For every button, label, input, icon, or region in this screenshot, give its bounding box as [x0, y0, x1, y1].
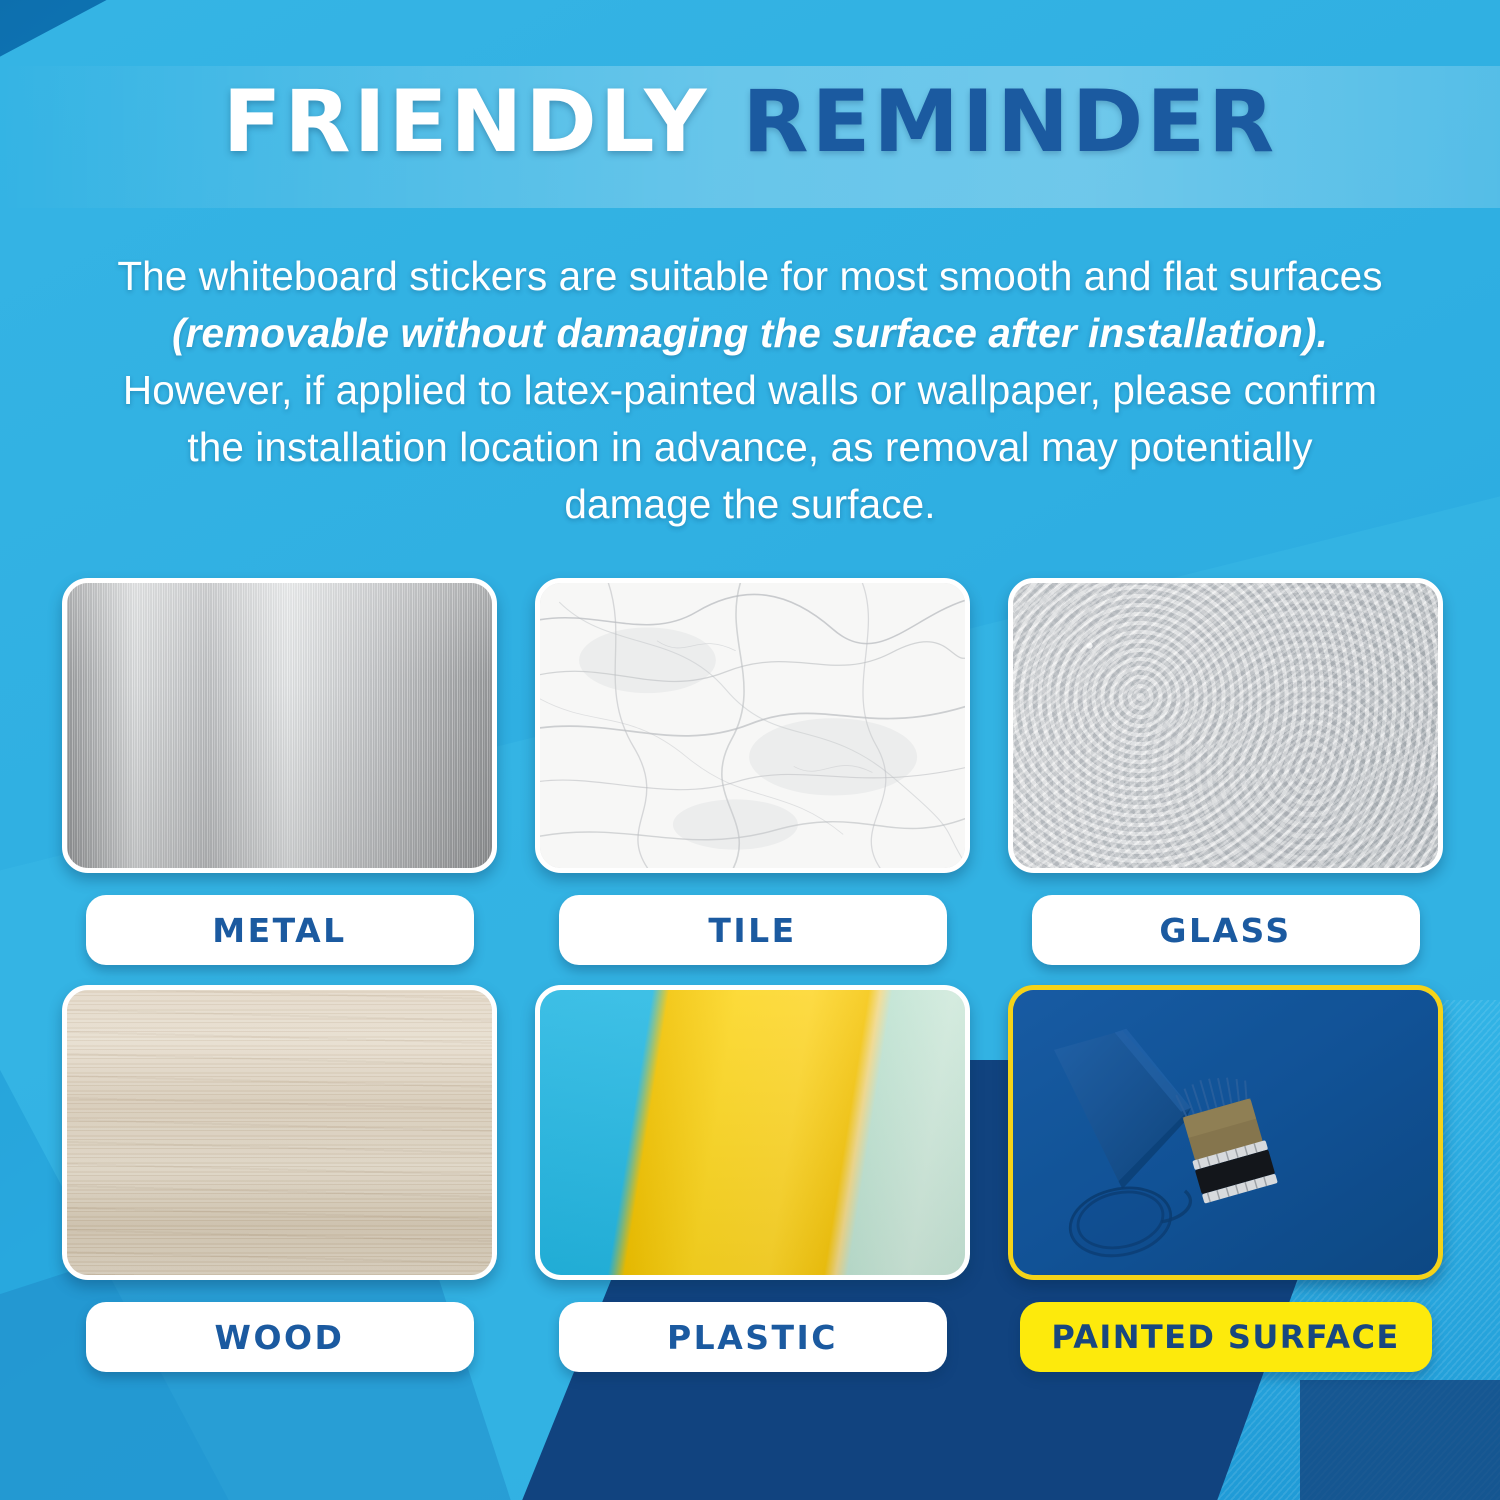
label-pill-painted-surface[interactable]: PAINTED SURFACE [1020, 1302, 1432, 1372]
surface-card-tile: TILE [535, 578, 970, 965]
light-oak-wood-texture-icon [67, 990, 492, 1275]
white-marble-texture-icon [540, 583, 965, 868]
glass-swatch [1008, 578, 1443, 873]
surface-label-plastic: PLASTIC [667, 1318, 838, 1357]
surface-label-wood: WOOD [215, 1318, 345, 1357]
tile-swatch [535, 578, 970, 873]
paint-can-brush-photo-icon [1013, 990, 1438, 1275]
body-segment-2: However, if applied to latex-painted wal… [123, 367, 1377, 527]
background-corner-bottom-right [1300, 1380, 1500, 1500]
surface-label-tile: TILE [708, 911, 796, 950]
surface-card-plastic: PLASTIC [535, 985, 970, 1372]
surface-card-painted-surface: PAINTED SURFACE [1008, 985, 1443, 1372]
body-segment-1: The whiteboard stickers are suitable for… [117, 253, 1382, 299]
paint-can-and-brush-icon [1013, 990, 1438, 1275]
friendly-reminder-infographic: FRIENDLY REMINDER The whiteboard sticker… [0, 0, 1500, 1500]
frosted-glass-texture-icon [1013, 583, 1438, 868]
plastic-swatch [535, 985, 970, 1280]
surface-card-wood: WOOD [62, 985, 497, 1372]
painted-surface-swatch [1008, 985, 1443, 1280]
surface-grid: METAL [62, 578, 1442, 1372]
marble-vein-lines-icon [540, 583, 965, 868]
surface-label-glass: GLASS [1159, 911, 1291, 950]
body-segment-italic: (removable without damaging the surface … [172, 310, 1328, 356]
label-pill-metal[interactable]: METAL [86, 895, 474, 965]
title-friendly: FRIENDLY [223, 72, 710, 172]
body-paragraph: The whiteboard stickers are suitable for… [110, 248, 1390, 533]
wood-swatch [62, 985, 497, 1280]
metal-swatch [62, 578, 497, 873]
label-pill-wood[interactable]: WOOD [86, 1302, 474, 1372]
surface-label-metal: METAL [212, 911, 346, 950]
surface-label-painted-surface: PAINTED SURFACE [1051, 1318, 1399, 1356]
color-bands-texture-icon [540, 990, 965, 1275]
brushed-metal-texture-icon [67, 583, 492, 868]
label-pill-plastic[interactable]: PLASTIC [559, 1302, 947, 1372]
surface-card-metal: METAL [62, 578, 497, 965]
surface-card-glass: GLASS [1008, 578, 1443, 965]
title-reminder: REMINDER [742, 72, 1277, 172]
label-pill-glass[interactable]: GLASS [1032, 895, 1420, 965]
page-title: FRIENDLY REMINDER [0, 72, 1500, 172]
label-pill-tile[interactable]: TILE [559, 895, 947, 965]
